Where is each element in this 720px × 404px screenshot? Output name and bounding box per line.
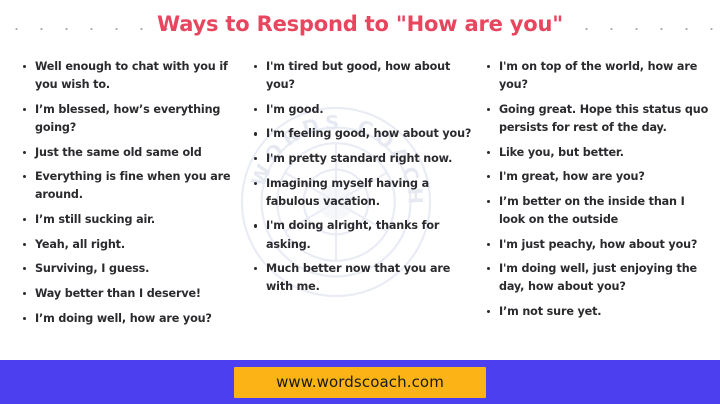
list-item: I'm feeling good, how about you?: [253, 125, 472, 143]
page-title: Ways to Respond to "How are you": [157, 12, 563, 36]
list-item: I’m blessed, how’s everything going?: [22, 101, 242, 137]
response-columns: Well enough to chat with you if you wish…: [0, 58, 720, 348]
list-item: Imagining myself having a fabulous vacat…: [253, 175, 472, 211]
list-item: I'm on top of the world, how are you?: [486, 58, 714, 94]
response-list-2: I'm tired but good, how about you? I'm g…: [253, 58, 472, 297]
list-item: I’m doing well, how are you?: [22, 310, 242, 328]
list-item: I'm pretty standard right now.: [253, 150, 472, 168]
list-item: I’m not sure yet.: [486, 303, 714, 321]
title-container: Ways to Respond to "How are you": [0, 12, 720, 36]
list-item: Well enough to chat with you if you wish…: [22, 58, 242, 94]
response-list-1: Well enough to chat with you if you wish…: [22, 58, 242, 328]
list-item: Yeah, all right.: [22, 236, 242, 254]
list-item: I'm doing well, just enjoying the day, h…: [486, 260, 714, 296]
list-item: I'm great, how are you?: [486, 168, 714, 186]
list-item: Just the same old same old: [22, 144, 242, 162]
list-item: I'm just peachy, how about you?: [486, 236, 714, 254]
response-column-2: I'm tired but good, how about you? I'm g…: [248, 58, 478, 348]
list-item: Like you, but better.: [486, 144, 714, 162]
list-item: I'm tired but good, how about you?: [253, 58, 472, 94]
list-item: Surviving, I guess.: [22, 260, 242, 278]
list-item: Going great. Hope this status quo persis…: [486, 101, 714, 137]
footer-band: www.wordscoach.com: [0, 360, 720, 404]
list-item: I’m still sucking air.: [22, 211, 242, 229]
website-url-button[interactable]: www.wordscoach.com: [234, 367, 486, 398]
response-column-3: I'm on top of the world, how are you? Go…: [478, 58, 720, 348]
list-item: Way better than I deserve!: [22, 285, 242, 303]
poster-canvas: Ways to Respond to "How are you" W: [0, 0, 720, 404]
response-list-3: I'm on top of the world, how are you? Go…: [486, 58, 714, 321]
response-column-1: Well enough to chat with you if you wish…: [0, 58, 248, 348]
list-item: Everything is fine when you are around.: [22, 168, 242, 204]
list-item: Much better now that you are with me.: [253, 260, 472, 296]
list-item: I'm good.: [253, 101, 472, 119]
list-item: I’m better on the inside than I look on …: [486, 193, 714, 229]
list-item: I'm doing alright, thanks for asking.: [253, 217, 472, 253]
